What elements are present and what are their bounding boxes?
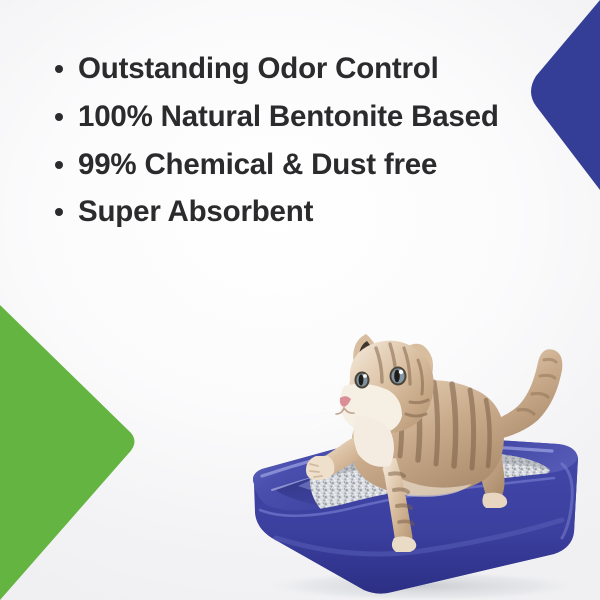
- product-photo: [232, 324, 600, 600]
- list-item: Super Absorbent: [52, 195, 522, 230]
- kitten-eye-right-glint: [399, 370, 403, 374]
- green-corner-wedge: [0, 305, 150, 600]
- kitten-eye-left-pupil: [359, 374, 364, 385]
- green-wedge-shape: [0, 305, 135, 600]
- list-item: 99% Chemical & Dust free: [52, 148, 522, 183]
- feature-label: Outstanding Odor Control: [78, 52, 439, 85]
- feature-label: Super Absorbent: [78, 195, 313, 228]
- blue-wedge-shape: [531, 0, 600, 190]
- feature-bullet-list: Outstanding Odor Control 100% Natural Be…: [52, 52, 522, 243]
- kitten-eye-left-glint: [363, 374, 367, 378]
- feature-label: 100% Natural Bentonite Based: [78, 100, 499, 133]
- list-item: 100% Natural Bentonite Based: [52, 100, 522, 135]
- promo-card: Outstanding Odor Control 100% Natural Be…: [0, 0, 600, 600]
- bullet-dot-icon: [55, 65, 63, 73]
- bullet-dot-icon: [55, 208, 63, 216]
- bullet-dot-icon: [55, 161, 63, 169]
- kitten-whiskers: [302, 392, 340, 430]
- bullet-dot-icon: [55, 113, 63, 121]
- feature-label: 99% Chemical & Dust free: [78, 148, 437, 181]
- list-item: Outstanding Odor Control: [52, 52, 522, 87]
